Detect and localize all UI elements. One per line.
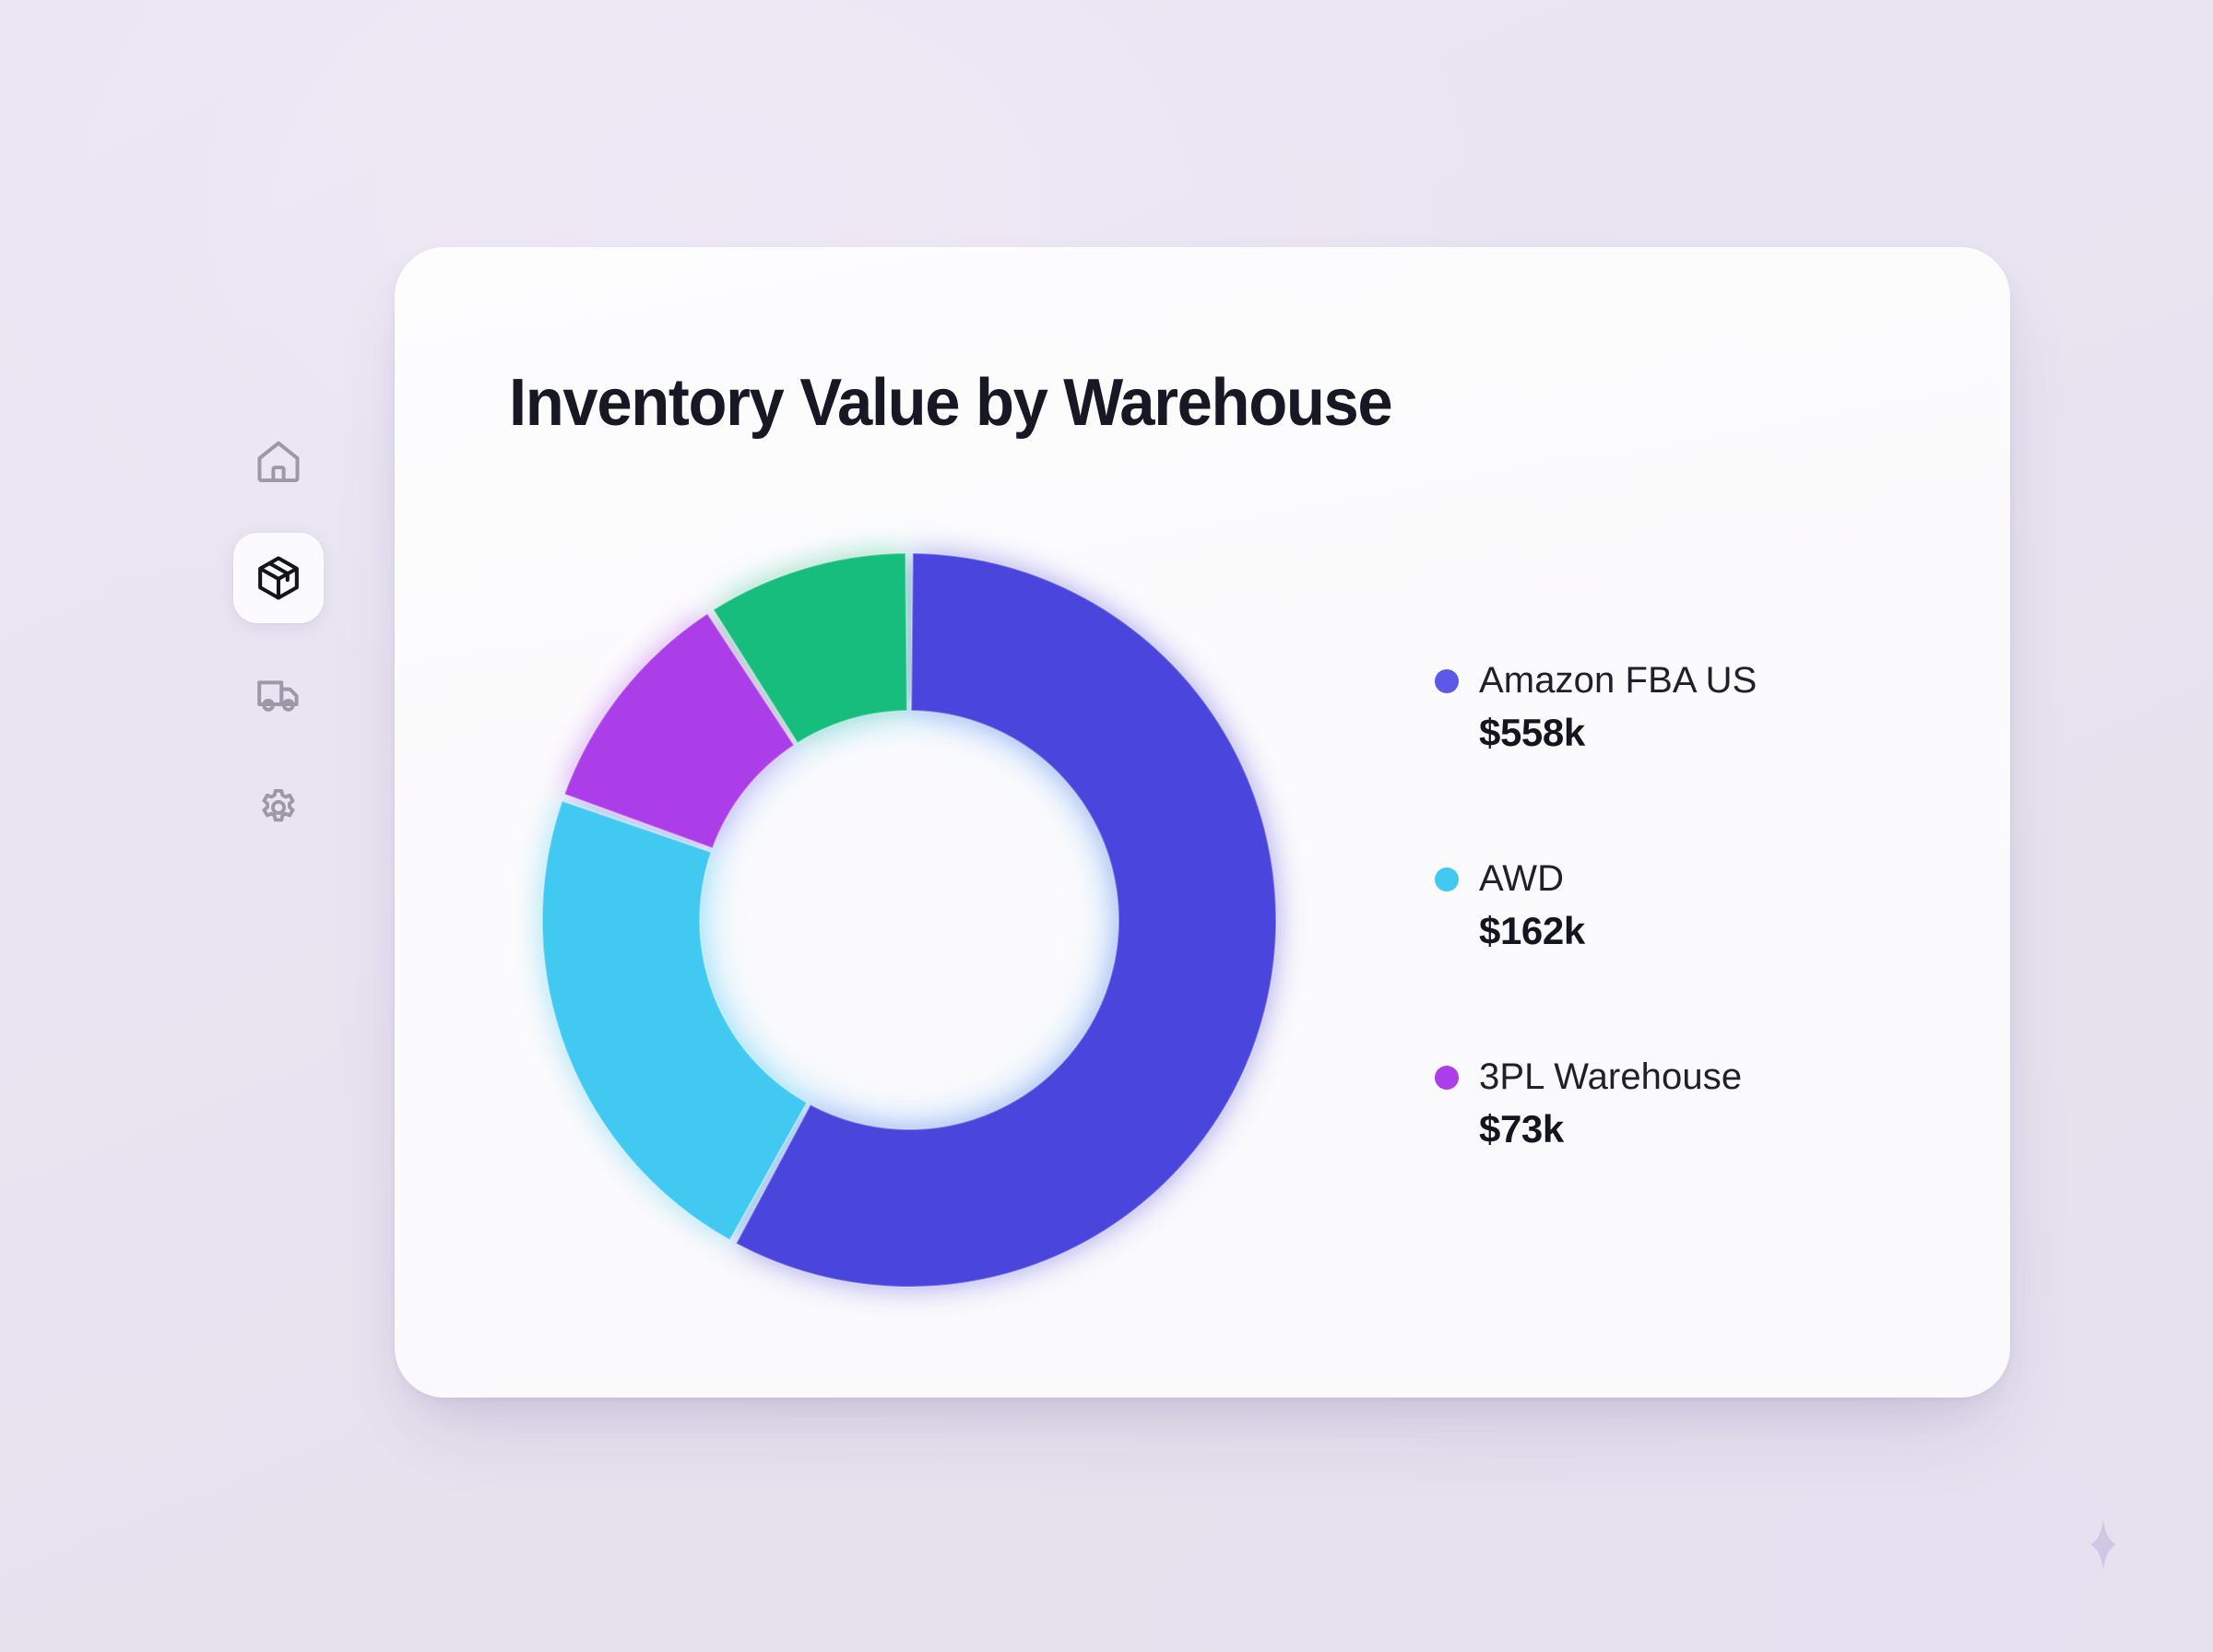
sidebar-item-inventory[interactable] [233, 533, 324, 623]
legend-label: AWD [1479, 858, 1564, 900]
legend-swatch-icon [1435, 669, 1459, 693]
package-icon [253, 552, 304, 604]
legend-value: $73k [1479, 1107, 1914, 1151]
legend-swatch-icon [1435, 1066, 1459, 1090]
list-item[interactable]: 3PL Warehouse $73k [1435, 1056, 1914, 1151]
truck-icon [253, 668, 304, 720]
legend-label: Amazon FBA US [1479, 660, 1757, 702]
legend-label: 3PL Warehouse [1479, 1056, 1742, 1098]
legend-swatch-icon [1435, 867, 1459, 891]
chart-card: Inventory Value by Warehouse [395, 247, 2010, 1398]
legend-value: $558k [1479, 711, 1914, 755]
list-item[interactable]: AWD $162k [1435, 858, 1914, 953]
sparkle-icon [2067, 1508, 2139, 1580]
home-icon [253, 436, 304, 488]
chart-legend: Amazon FBA US $558k AWD $162k 3PL Wareho… [1435, 660, 1914, 1151]
sidebar-item-shipping[interactable] [233, 649, 324, 739]
legend-value: $162k [1479, 909, 1914, 953]
donut-chart [503, 514, 1315, 1326]
page-title: Inventory Value by Warehouse [509, 365, 1391, 441]
sidebar-item-home[interactable] [233, 417, 324, 507]
gear-icon [254, 785, 303, 835]
list-item[interactable]: Amazon FBA US $558k [1435, 660, 1914, 755]
sidebar-nav [229, 417, 328, 855]
sidebar-item-settings[interactable] [233, 765, 324, 855]
